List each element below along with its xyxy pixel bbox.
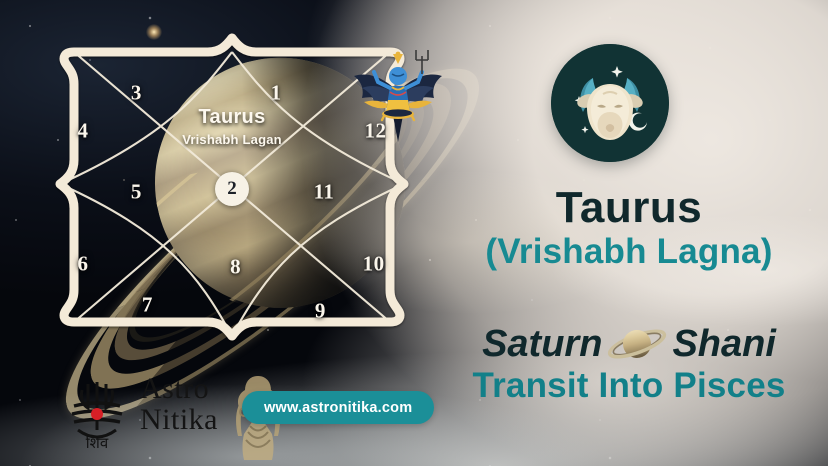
- subheadline-block: Saturn: [430, 318, 828, 406]
- logo-line-2: Nitika: [140, 404, 218, 436]
- banner-canvas: 1 3 4 5 6 7 8 9 10 11 12 2 Taurus Vrisha…: [0, 0, 828, 466]
- trishul-icon: शिव: [64, 376, 130, 454]
- saturn-shani-row: Saturn: [430, 318, 828, 370]
- house-number-5[interactable]: 5: [131, 179, 142, 204]
- logo-devanagari: शिव: [86, 434, 109, 452]
- house-number-4[interactable]: 4: [77, 119, 88, 144]
- taurus-zodiac-emblem: [551, 44, 669, 162]
- house-number-3[interactable]: 3: [131, 81, 142, 106]
- page-subtitle: (Vrishabh Lagna): [430, 233, 828, 272]
- chart-title-block: Taurus Vrishabh Lagan: [182, 106, 282, 147]
- shani-deity-icon: [352, 42, 444, 146]
- transit-line: Transit Into Pisces: [430, 366, 828, 406]
- house-number-11[interactable]: 11: [314, 179, 335, 204]
- website-url-button[interactable]: www.astronitika.com: [242, 391, 434, 424]
- astronitika-logo[interactable]: शिव Astro Nitika: [58, 372, 238, 458]
- house-number-7[interactable]: 7: [142, 293, 153, 318]
- saturn-word: Saturn: [482, 323, 602, 366]
- lagna-house-badge[interactable]: 2: [215, 172, 249, 206]
- saturn-planet-icon: [606, 322, 668, 366]
- house-number-10[interactable]: 10: [363, 252, 385, 277]
- chart-title: Taurus: [182, 106, 282, 129]
- page-title: Taurus: [430, 186, 828, 231]
- chart-subtitle: Vrishabh Lagan: [182, 132, 282, 147]
- logo-wordmark: Astro Nitika: [140, 374, 218, 436]
- shani-word: Shani: [672, 323, 775, 366]
- headline-block: Taurus (Vrishabh Lagna): [430, 186, 828, 271]
- logo-line-1: Astro: [140, 374, 218, 404]
- house-number-6[interactable]: 6: [77, 252, 88, 277]
- house-number-9[interactable]: 9: [315, 298, 326, 323]
- house-number-8[interactable]: 8: [230, 255, 241, 280]
- house-number-1[interactable]: 1: [271, 81, 282, 106]
